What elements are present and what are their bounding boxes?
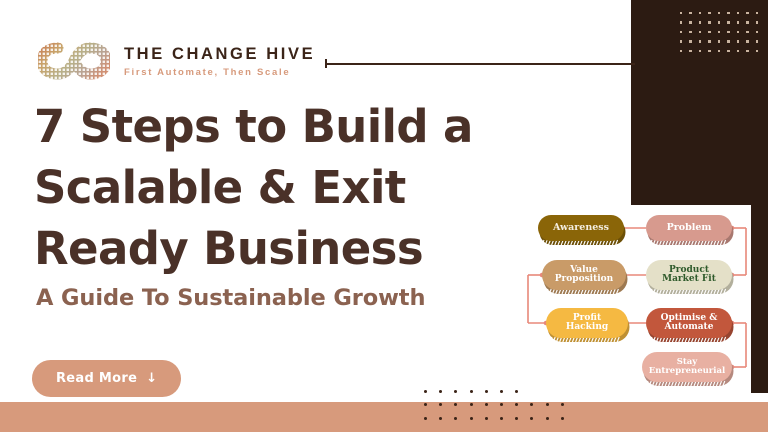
panel-dot — [699, 50, 702, 53]
bottom-dot — [485, 403, 488, 406]
bottom-dot — [470, 417, 473, 420]
panel-dot — [708, 12, 711, 15]
panel-dot — [699, 40, 702, 43]
arrow-down-icon: ↓ — [146, 372, 157, 385]
bottom-dot — [424, 403, 427, 406]
bottom-dot — [454, 403, 457, 406]
panel-dot — [708, 21, 711, 24]
panel-dot — [718, 40, 721, 43]
panel-dot — [737, 40, 740, 43]
panel-dot — [689, 12, 692, 15]
brand-logo[interactable]: THE CHANGE HIVE First Automate, Then Sca… — [38, 40, 315, 82]
panel-dot — [699, 31, 702, 34]
brand-tagline: First Automate, Then Scale — [124, 67, 315, 78]
panel-dot — [756, 21, 759, 24]
brand-text: THE CHANGE HIVE First Automate, Then Sca… — [124, 45, 315, 78]
panel-dot — [708, 50, 711, 53]
poster-canvas: THE CHANGE HIVE First Automate, Then Sca… — [0, 0, 768, 432]
panel-dot — [680, 31, 683, 34]
panel-dot — [689, 40, 692, 43]
diagram-node-value-prop[interactable] — [542, 260, 628, 294]
diagram-node-optimise[interactable] — [646, 308, 734, 342]
panel-dot — [718, 31, 721, 34]
diagram-node-profit-hack[interactable] — [546, 308, 630, 342]
bottom-dot — [561, 417, 564, 420]
diagram-node-problem[interactable] — [646, 215, 734, 245]
panel-dot — [727, 50, 730, 53]
panel-dot — [746, 31, 749, 34]
panel-dot — [727, 31, 730, 34]
diagram-nodes — [538, 215, 734, 386]
panel-dot — [699, 12, 702, 15]
diagram-node-awareness[interactable] — [538, 215, 626, 245]
bottom-dot — [546, 417, 549, 420]
panel-dot — [746, 21, 749, 24]
bottom-dot — [485, 390, 488, 393]
bottom-dot — [530, 403, 533, 406]
panel-dot — [727, 21, 730, 24]
panel-dot — [689, 50, 692, 53]
bottom-dot — [439, 390, 442, 393]
panel-dot — [746, 50, 749, 53]
bottom-dot — [546, 403, 549, 406]
panel-dot — [680, 40, 683, 43]
panel-dot — [746, 12, 749, 15]
diagram-node-product-fit[interactable] — [646, 260, 734, 294]
panel-dot — [699, 21, 702, 24]
node-body — [646, 260, 732, 290]
bottom-dot — [424, 417, 427, 420]
node-body — [646, 308, 732, 338]
header-rule — [325, 63, 635, 65]
bottom-accent-bar — [0, 402, 768, 432]
read-more-button[interactable]: Read More ↓ — [32, 360, 181, 397]
panel-dot — [708, 31, 711, 34]
panel-dot — [737, 50, 740, 53]
bottom-dot — [439, 417, 442, 420]
steps-diagram: AwarenessProblemValue PropositionProduct… — [520, 205, 751, 393]
diagram-node-stay-entre[interactable] — [642, 352, 734, 386]
bottom-dot — [515, 403, 518, 406]
bottom-dot — [515, 417, 518, 420]
panel-dot — [718, 50, 721, 53]
panel-dot — [756, 31, 759, 34]
bottom-dot — [485, 417, 488, 420]
bottom-dot — [500, 417, 503, 420]
bottom-dot — [424, 390, 427, 393]
bottom-dot — [515, 390, 518, 393]
node-body — [642, 352, 732, 382]
bottom-dot — [454, 390, 457, 393]
panel-dot — [756, 12, 759, 15]
page-subtitle: A Guide To Sustainable Growth — [36, 285, 425, 311]
infinity-dots-logo-icon — [38, 40, 110, 82]
panel-dot — [737, 21, 740, 24]
panel-dot — [689, 31, 692, 34]
panel-dot — [746, 40, 749, 43]
bottom-dot — [500, 390, 503, 393]
bottom-dot — [530, 417, 533, 420]
panel-dot — [727, 40, 730, 43]
panel-dot — [689, 21, 692, 24]
panel-dot — [680, 21, 683, 24]
panel-dot — [708, 40, 711, 43]
node-body — [538, 215, 624, 241]
diagram-edges — [528, 226, 746, 370]
bottom-dot — [454, 417, 457, 420]
read-more-label: Read More — [56, 371, 137, 386]
node-body — [546, 308, 628, 338]
panel-dot — [756, 40, 759, 43]
node-body — [542, 260, 626, 290]
diagram-canvas — [520, 205, 751, 393]
header-rule-tick — [325, 59, 327, 68]
panel-dot — [718, 12, 721, 15]
panel-dot — [718, 21, 721, 24]
panel-dot — [737, 31, 740, 34]
panel-dot — [680, 50, 683, 53]
bottom-dot — [470, 390, 473, 393]
panel-dot-grid — [676, 8, 762, 56]
node-body — [646, 215, 732, 241]
panel-dot — [737, 12, 740, 15]
brand-name: THE CHANGE HIVE — [124, 45, 315, 64]
panel-dot — [680, 12, 683, 15]
panel-dot — [756, 50, 759, 53]
bottom-dot — [470, 403, 473, 406]
panel-dot — [727, 12, 730, 15]
bottom-dot — [439, 403, 442, 406]
bottom-dot — [561, 403, 564, 406]
page-title: 7 Steps to Build a Scalable & Exit Ready… — [34, 96, 574, 280]
bottom-dot — [500, 403, 503, 406]
